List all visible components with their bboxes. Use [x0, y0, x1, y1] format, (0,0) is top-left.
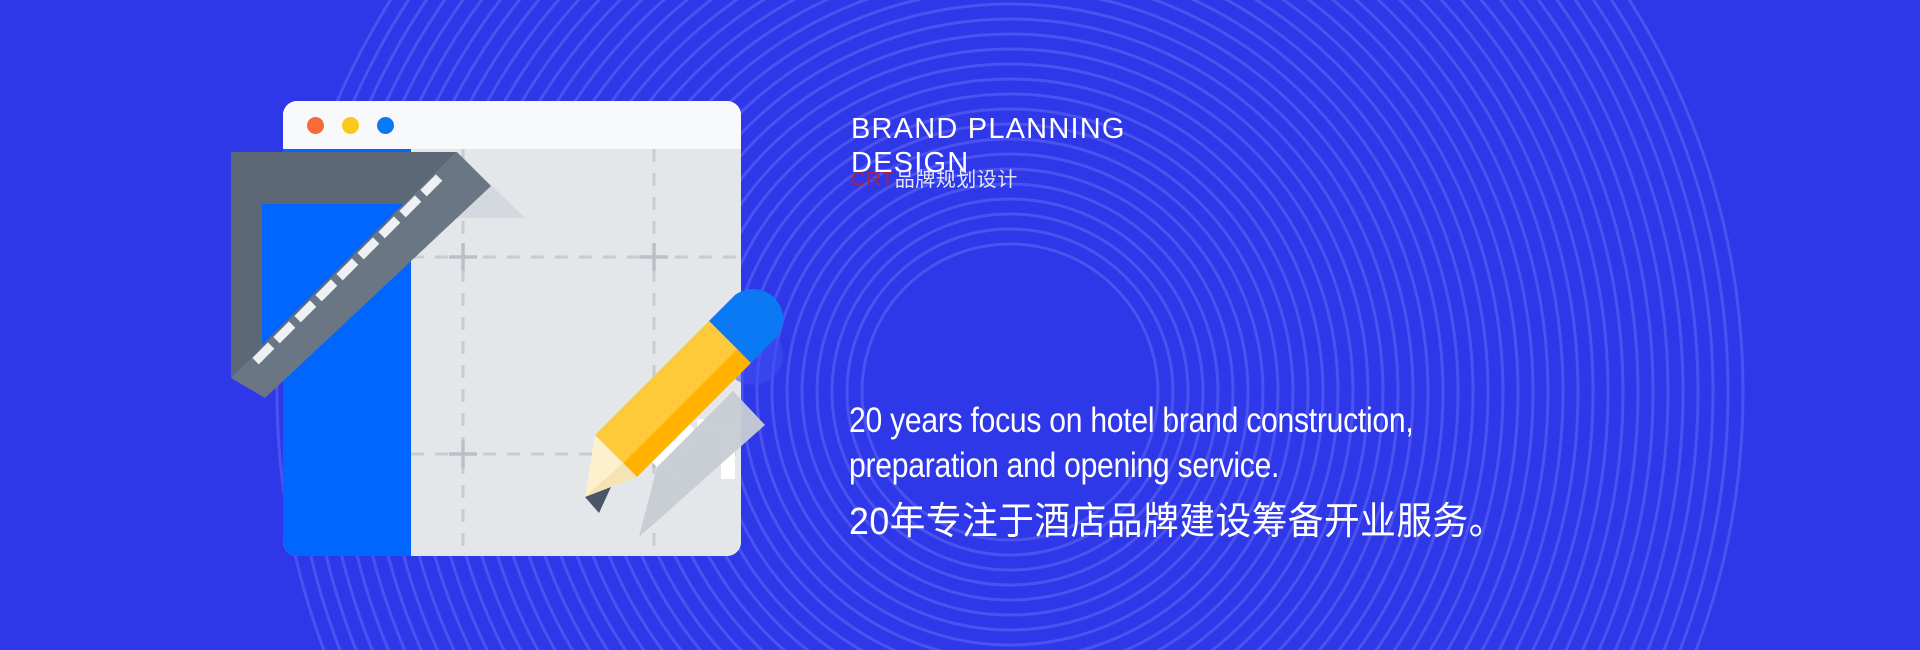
brand-subtitle-crt: CRT — [851, 169, 895, 191]
tagline-chinese: 20年专注于酒店品牌建设筹备开业服务。 — [849, 496, 1657, 548]
brand-subtitle: CRT品牌规划设计 — [851, 168, 1018, 192]
tagline-block: 20 years focus on hotel brand constructi… — [849, 398, 1709, 548]
window-minimize-dot-icon — [342, 117, 359, 134]
hero-banner: BRAND PLANNING DESIGN CRT品牌规划设计 20 years… — [0, 0, 1920, 650]
window-close-dot-icon — [307, 117, 324, 134]
tagline-english: 20 years focus on hotel brand constructi… — [849, 398, 1589, 488]
window-maximize-dot-icon — [377, 117, 394, 134]
triangle-ruler-icon — [225, 140, 525, 400]
brand-design-illustration — [0, 0, 1000, 650]
pencil-icon — [565, 275, 815, 560]
brand-subtitle-chinese: 品牌规划设计 — [895, 169, 1018, 191]
